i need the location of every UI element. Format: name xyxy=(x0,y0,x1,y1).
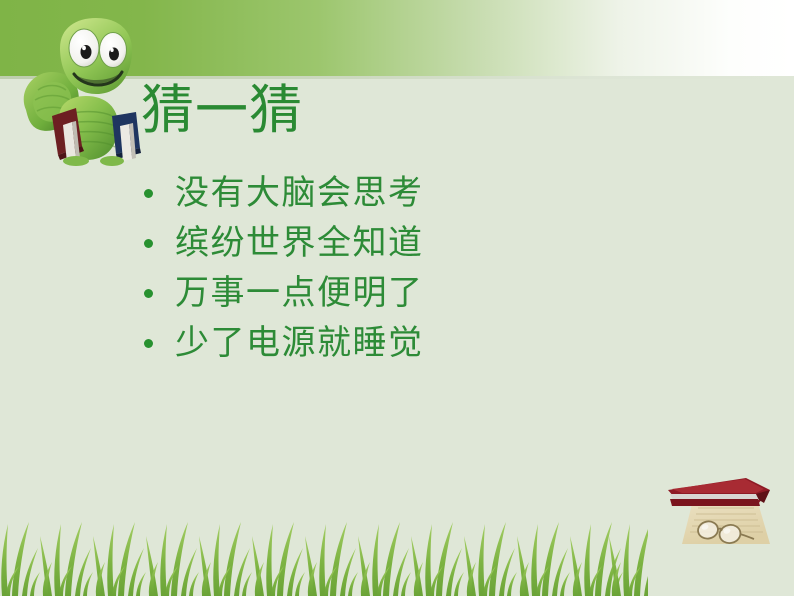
list-item-label: 万事一点便明了 xyxy=(175,273,424,313)
list-item-label: 缤纷世界全知道 xyxy=(175,223,424,263)
grass-border-icon xyxy=(0,500,648,596)
bullet-list: 没有大脑会思考 缤纷世界全知道 万事一点便明了 少了电源就睡觉 xyxy=(140,168,610,368)
list-item: 缤纷世界全知道 xyxy=(140,218,610,268)
slide-title: 猜一猜 xyxy=(141,80,303,142)
bookworm-mascot-icon xyxy=(16,12,152,167)
book-and-glasses-icon xyxy=(660,472,778,552)
list-item-label: 少了电源就睡觉 xyxy=(175,323,424,363)
slide-canvas: 猜一猜 没有大脑会思考 缤纷世界全知道 万事一点便明了 少了电源就睡觉 xyxy=(0,0,794,596)
list-item-label: 没有大脑会思考 xyxy=(175,173,424,213)
bullet-dot-icon xyxy=(144,289,153,298)
bullet-dot-icon xyxy=(144,189,153,198)
bullet-dot-icon xyxy=(144,339,153,348)
bullet-dot-icon xyxy=(144,239,153,248)
list-item: 没有大脑会思考 xyxy=(140,168,610,218)
list-item: 少了电源就睡觉 xyxy=(140,318,610,368)
list-item: 万事一点便明了 xyxy=(140,268,610,318)
